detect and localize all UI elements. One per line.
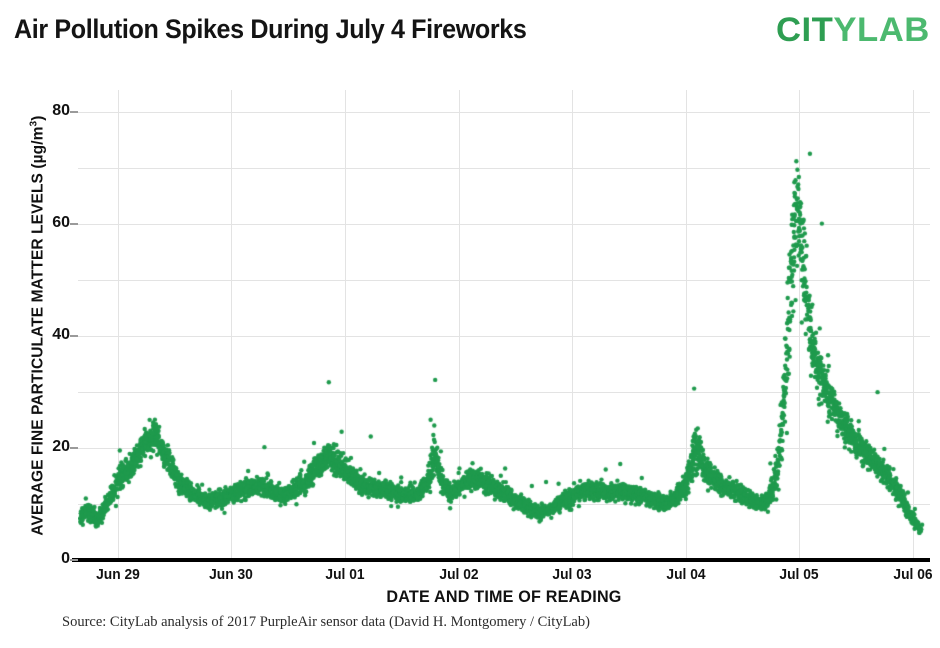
x-axis-line [72, 558, 930, 562]
x-tick-label-3: Jul 02 [413, 566, 505, 583]
x-tick-label-1: Jun 30 [185, 566, 277, 583]
y-tick-label-4: 80 [52, 102, 70, 120]
y-tick-mark-3 [70, 223, 78, 225]
page-title: Air Pollution Spikes During July 4 Firew… [14, 14, 526, 45]
y-axis-mask [70, 86, 73, 564]
x-tick-label-4: Jul 03 [526, 566, 618, 583]
scatter-plot-canvas [78, 90, 930, 560]
x-tick-label-6: Jul 05 [753, 566, 845, 583]
x-axis-title: DATE AND TIME OF READING [99, 587, 908, 607]
x-tick-label-2: Jul 01 [299, 566, 391, 583]
y-tick-label-3: 60 [52, 214, 70, 232]
x-tick-label-0: Jun 29 [72, 566, 164, 583]
y-axis-title-text: AVERAGE FINE PARTICULATE MATTER LEVELS (… [30, 126, 47, 535]
plot-area [78, 90, 930, 560]
y-tick-mark-0 [70, 559, 78, 561]
y-tick-mark-4 [70, 111, 78, 113]
x-tick-label-5: Jul 04 [640, 566, 732, 583]
y-axis-title-exponent: 3 [28, 121, 39, 127]
logo-text-part-2: YLAB [834, 11, 930, 49]
source-note: Source: CityLab analysis of 2017 PurpleA… [62, 614, 590, 631]
x-tick-label-7: Jul 06 [867, 566, 940, 583]
chart-header: Air Pollution Spikes During July 4 Firew… [0, 0, 940, 62]
y-axis-title-suffix: ) [30, 116, 47, 121]
citylab-logo: CITYLAB [776, 13, 930, 47]
y-tick-label-1: 20 [52, 438, 70, 456]
y-tick-mark-1 [70, 447, 78, 449]
y-tick-mark-2 [70, 335, 78, 337]
y-tick-label-2: 40 [52, 326, 70, 344]
y-tick-label-0: 0 [61, 550, 70, 568]
y-axis-title: AVERAGE FINE PARTICULATE MATTER LEVELS (… [28, 76, 47, 576]
logo-text-part-1: CIT [776, 11, 833, 49]
